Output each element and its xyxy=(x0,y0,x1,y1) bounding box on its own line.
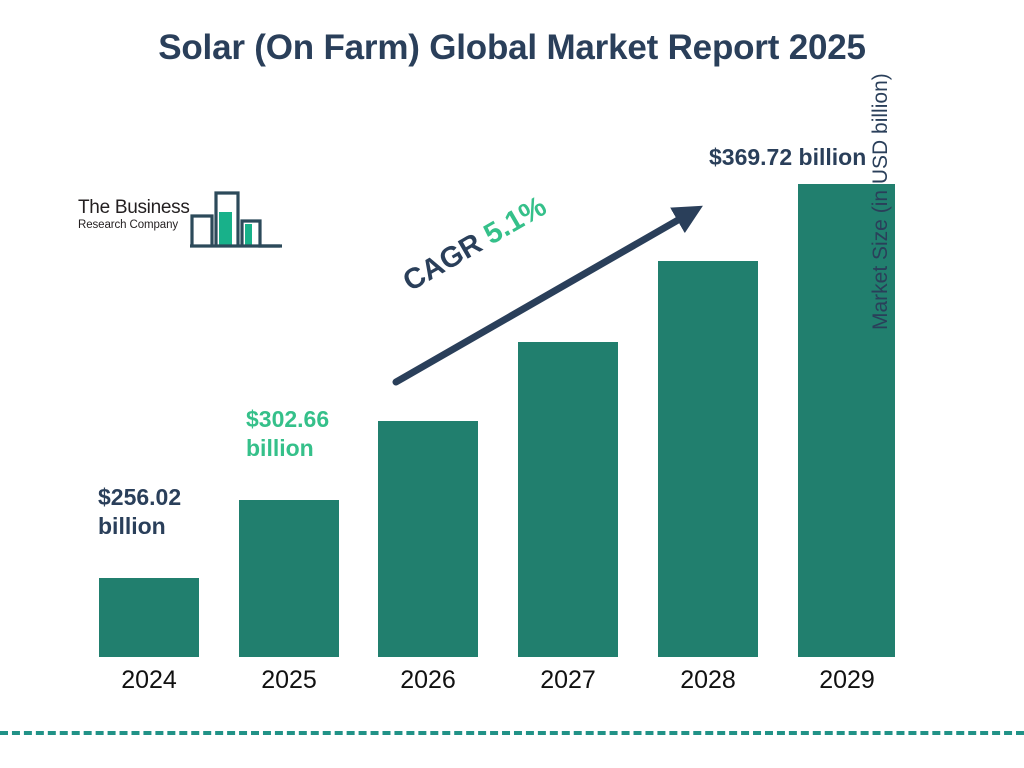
cagr-annotation-value: 5.1% xyxy=(479,190,552,251)
x-axis-label-2025: 2025 xyxy=(219,666,359,695)
cagr-annotation-word: CAGR xyxy=(398,228,488,298)
x-axis-label-2024: 2024 xyxy=(79,666,219,695)
bar-2026[interactable] xyxy=(378,421,478,657)
value-label-2024-unit: billion xyxy=(98,512,181,541)
value-label-2025: $302.66 billion xyxy=(246,405,329,464)
cagr-annotation: CAGR 5.1% xyxy=(398,190,553,298)
plot-area: 2024 2025 2026 2027 2028 2029 $256.02 bi… xyxy=(0,0,1024,768)
value-label-2024: $256.02 billion xyxy=(98,483,181,542)
value-label-2025-amount: $302.66 xyxy=(246,405,329,434)
bar-2028[interactable] xyxy=(658,261,758,657)
x-axis-label-2028: 2028 xyxy=(638,666,778,695)
bar-2025[interactable] xyxy=(239,500,339,657)
chart-canvas: Solar (On Farm) Global Market Report 202… xyxy=(0,0,1024,768)
value-label-2025-unit: billion xyxy=(246,434,329,463)
x-axis-label-2026: 2026 xyxy=(358,666,498,695)
bar-2027[interactable] xyxy=(518,342,618,657)
x-axis-label-2029: 2029 xyxy=(777,666,917,695)
y-axis-title: Market Size (in USD billion) xyxy=(869,0,893,330)
value-label-2029: $369.72 billion xyxy=(709,143,866,172)
footer-divider xyxy=(0,731,1024,735)
bar-2024[interactable] xyxy=(99,578,199,657)
value-label-2024-amount: $256.02 xyxy=(98,483,181,512)
x-axis-label-2027: 2027 xyxy=(498,666,638,695)
